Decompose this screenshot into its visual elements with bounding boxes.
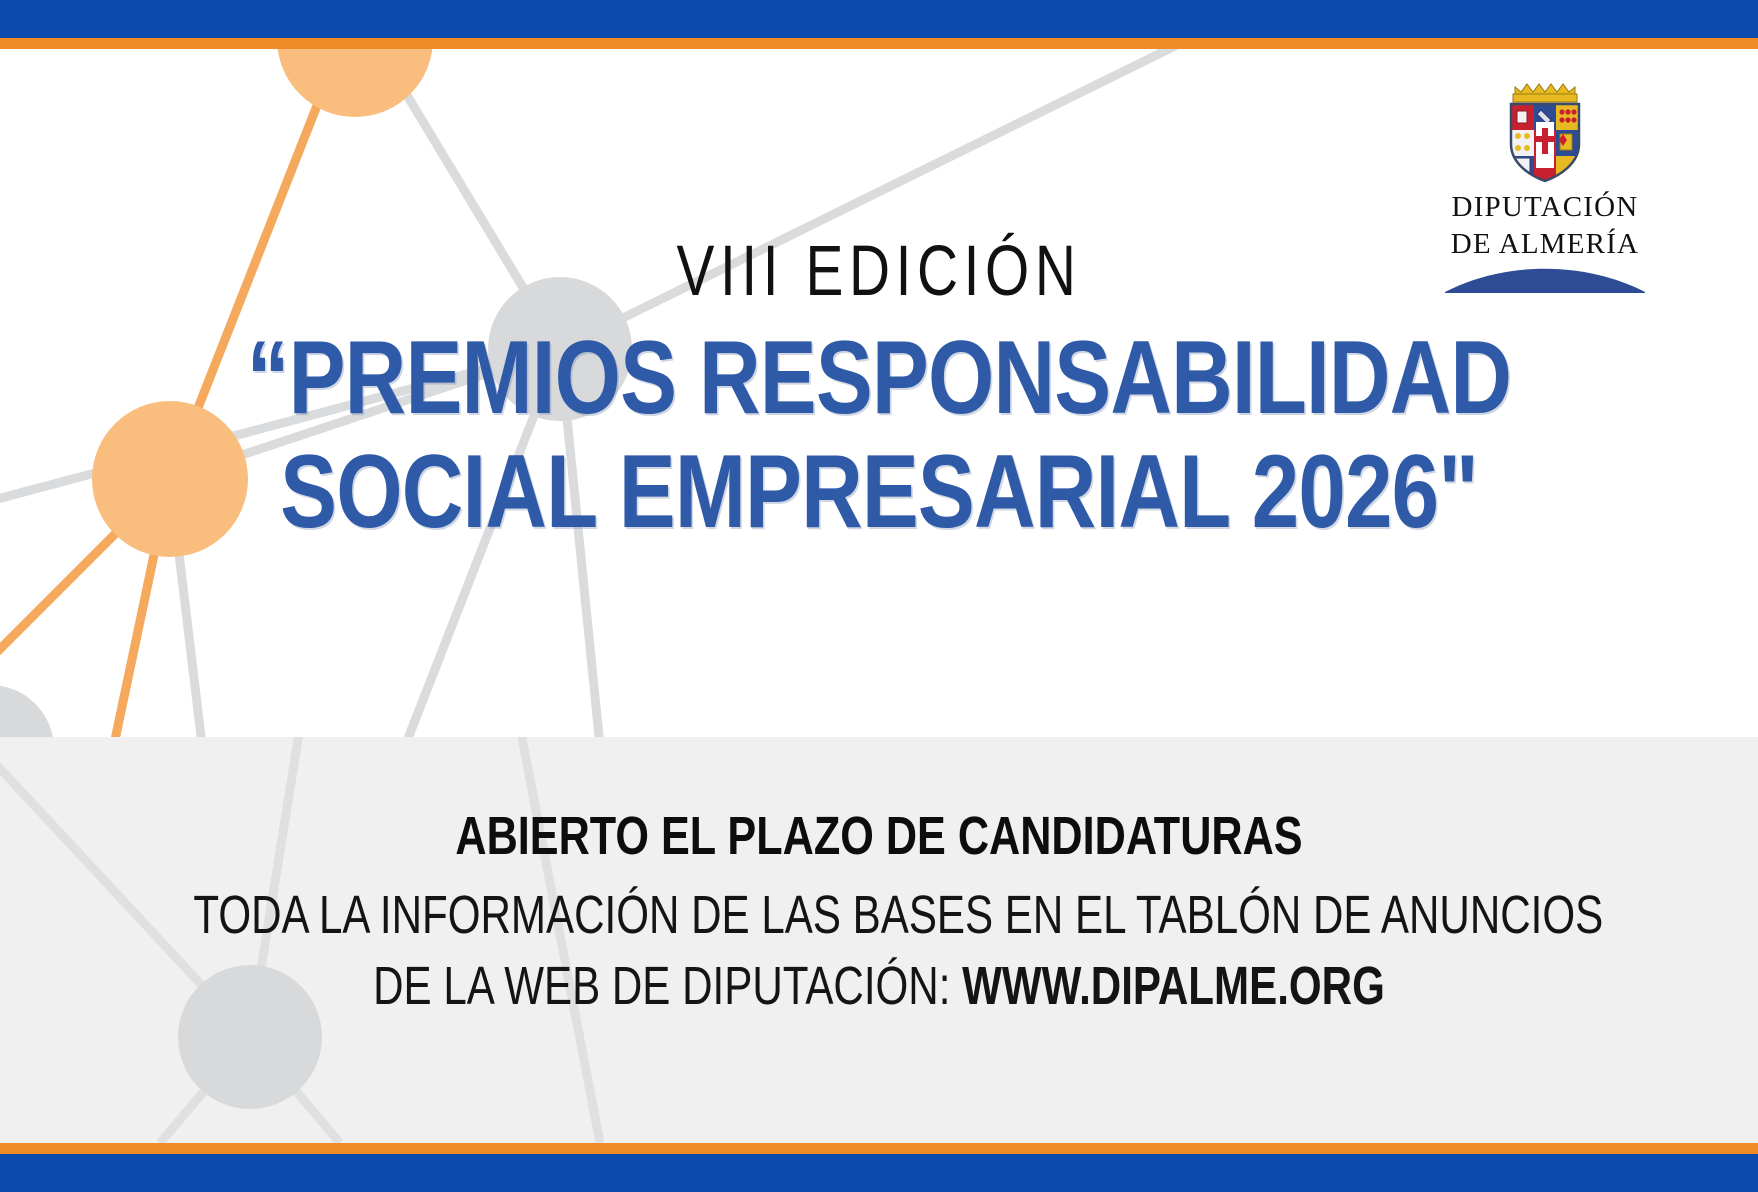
top-orange-bar — [0, 38, 1758, 49]
bottom-orange-bar — [0, 1143, 1758, 1154]
info-line-1: TODA LA INFORMACIÓN DE LAS BASES EN EL T… — [193, 880, 1564, 950]
logo-line-1: DIPUTACIÓN — [1395, 192, 1695, 223]
headline-block: VIII EDICIÓN “PREMIOS RESPONSABILIDAD SO… — [0, 236, 1758, 550]
award-title-line-2: SOCIAL EMPRESARIAL 2026" — [158, 435, 1600, 549]
coat-of-arms-icon — [1497, 78, 1593, 186]
callout-open-call: ABIERTO EL PLAZO DE CANDIDATURAS — [176, 806, 1582, 866]
bottom-blue-bar — [0, 1154, 1758, 1192]
edition-label: VIII EDICIÓN — [176, 236, 1582, 307]
top-blue-bar — [0, 0, 1758, 38]
info-block: ABIERTO EL PLAZO DE CANDIDATURAS TODA LA… — [0, 806, 1758, 1021]
website-url[interactable]: WWW.DIPALME.ORG — [962, 956, 1385, 1016]
award-title-line-1: “PREMIOS RESPONSABILIDAD — [158, 321, 1600, 435]
info-line-2: DE LA WEB DE DIPUTACIÓN: WWW.DIPALME.ORG — [193, 951, 1564, 1021]
poster-root: DIPUTACIÓN DE ALMERÍA VIII EDICIÓN “PREM… — [0, 0, 1758, 1192]
info-line-2-prefix: DE LA WEB DE DIPUTACIÓN: — [373, 956, 962, 1016]
